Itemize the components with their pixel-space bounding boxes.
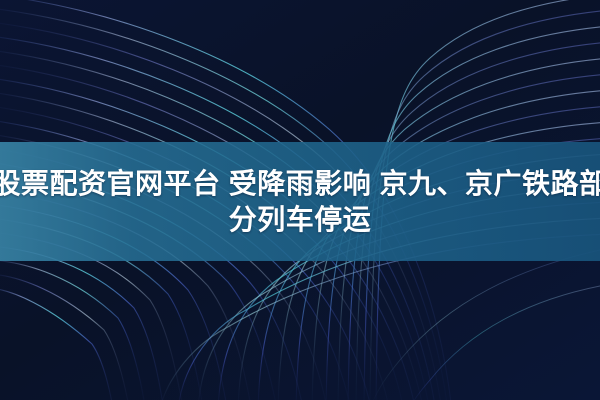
title-line-1: 股票配资官网平台 受降雨影响 京九、京广铁路部: [0, 167, 600, 201]
title-line-2: 分列车停运: [229, 203, 372, 237]
page-title: 股票配资官网平台 受降雨影响 京九、京广铁路部 分列车停运: [0, 142, 600, 261]
news-banner: 股票配资官网平台 受降雨影响 京九、京广铁路部 分列车停运: [0, 0, 600, 400]
